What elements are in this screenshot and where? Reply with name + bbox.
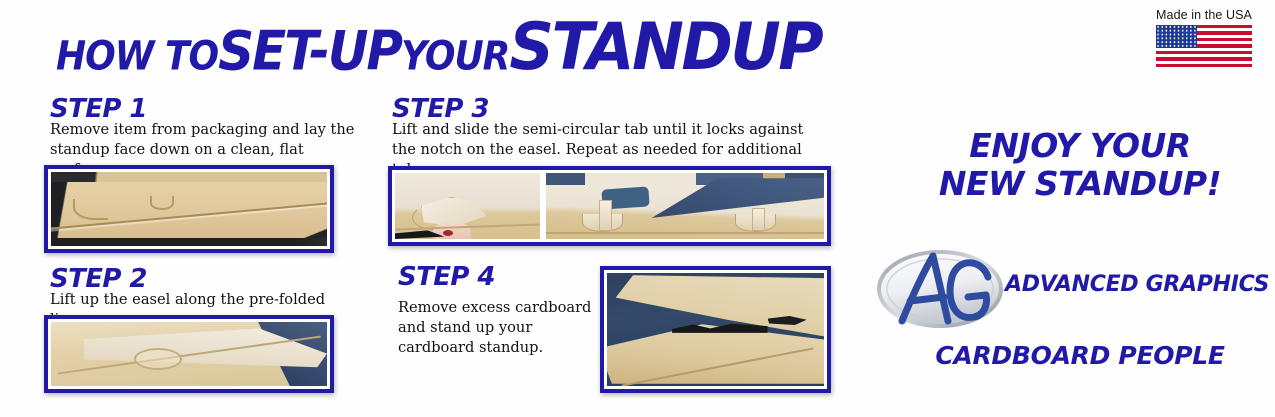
step-4-heading: STEP 4 [398, 262, 495, 292]
made-in-usa-label: Made in the USA [1148, 8, 1260, 22]
step-4-photo-frame [600, 266, 831, 393]
title-part-how-to: HOW TO [56, 20, 218, 94]
brand-tagline: CARDBOARD PEOPLE [900, 341, 1260, 370]
brand-name: ADVANCED GRAPHICS [1005, 272, 1261, 297]
flag-canton [1156, 25, 1197, 48]
made-in-usa-badge: Made in the USA [1148, 8, 1260, 67]
setup-instructions-page: HOW TO SET-UP YOUR STANDUP Made in the U… [0, 0, 1275, 417]
title-part-standup: STANDUP [509, 12, 821, 81]
step-4-photo [607, 273, 824, 386]
step-3-photo-a [395, 173, 540, 239]
step-2-photo [51, 322, 327, 386]
step-1-photo-frame [44, 165, 334, 253]
us-flag-icon [1156, 25, 1252, 67]
step-1-photo [51, 172, 327, 246]
title-part-set-up: SET-UP [218, 15, 401, 86]
title-part-your: YOUR [401, 20, 509, 94]
promo-headline: ENJOY YOUR NEW STANDUP! [900, 127, 1260, 203]
step-3-photo-b [546, 173, 824, 239]
step-2-photo-frame [44, 315, 334, 393]
step-4-body: Remove excess cardboard and stand up you… [398, 298, 613, 358]
page-title: HOW TO SET-UP YOUR STANDUP [56, 14, 876, 80]
ag-monogram-logo [876, 247, 1004, 331]
step-3-photo-frame [388, 166, 831, 246]
